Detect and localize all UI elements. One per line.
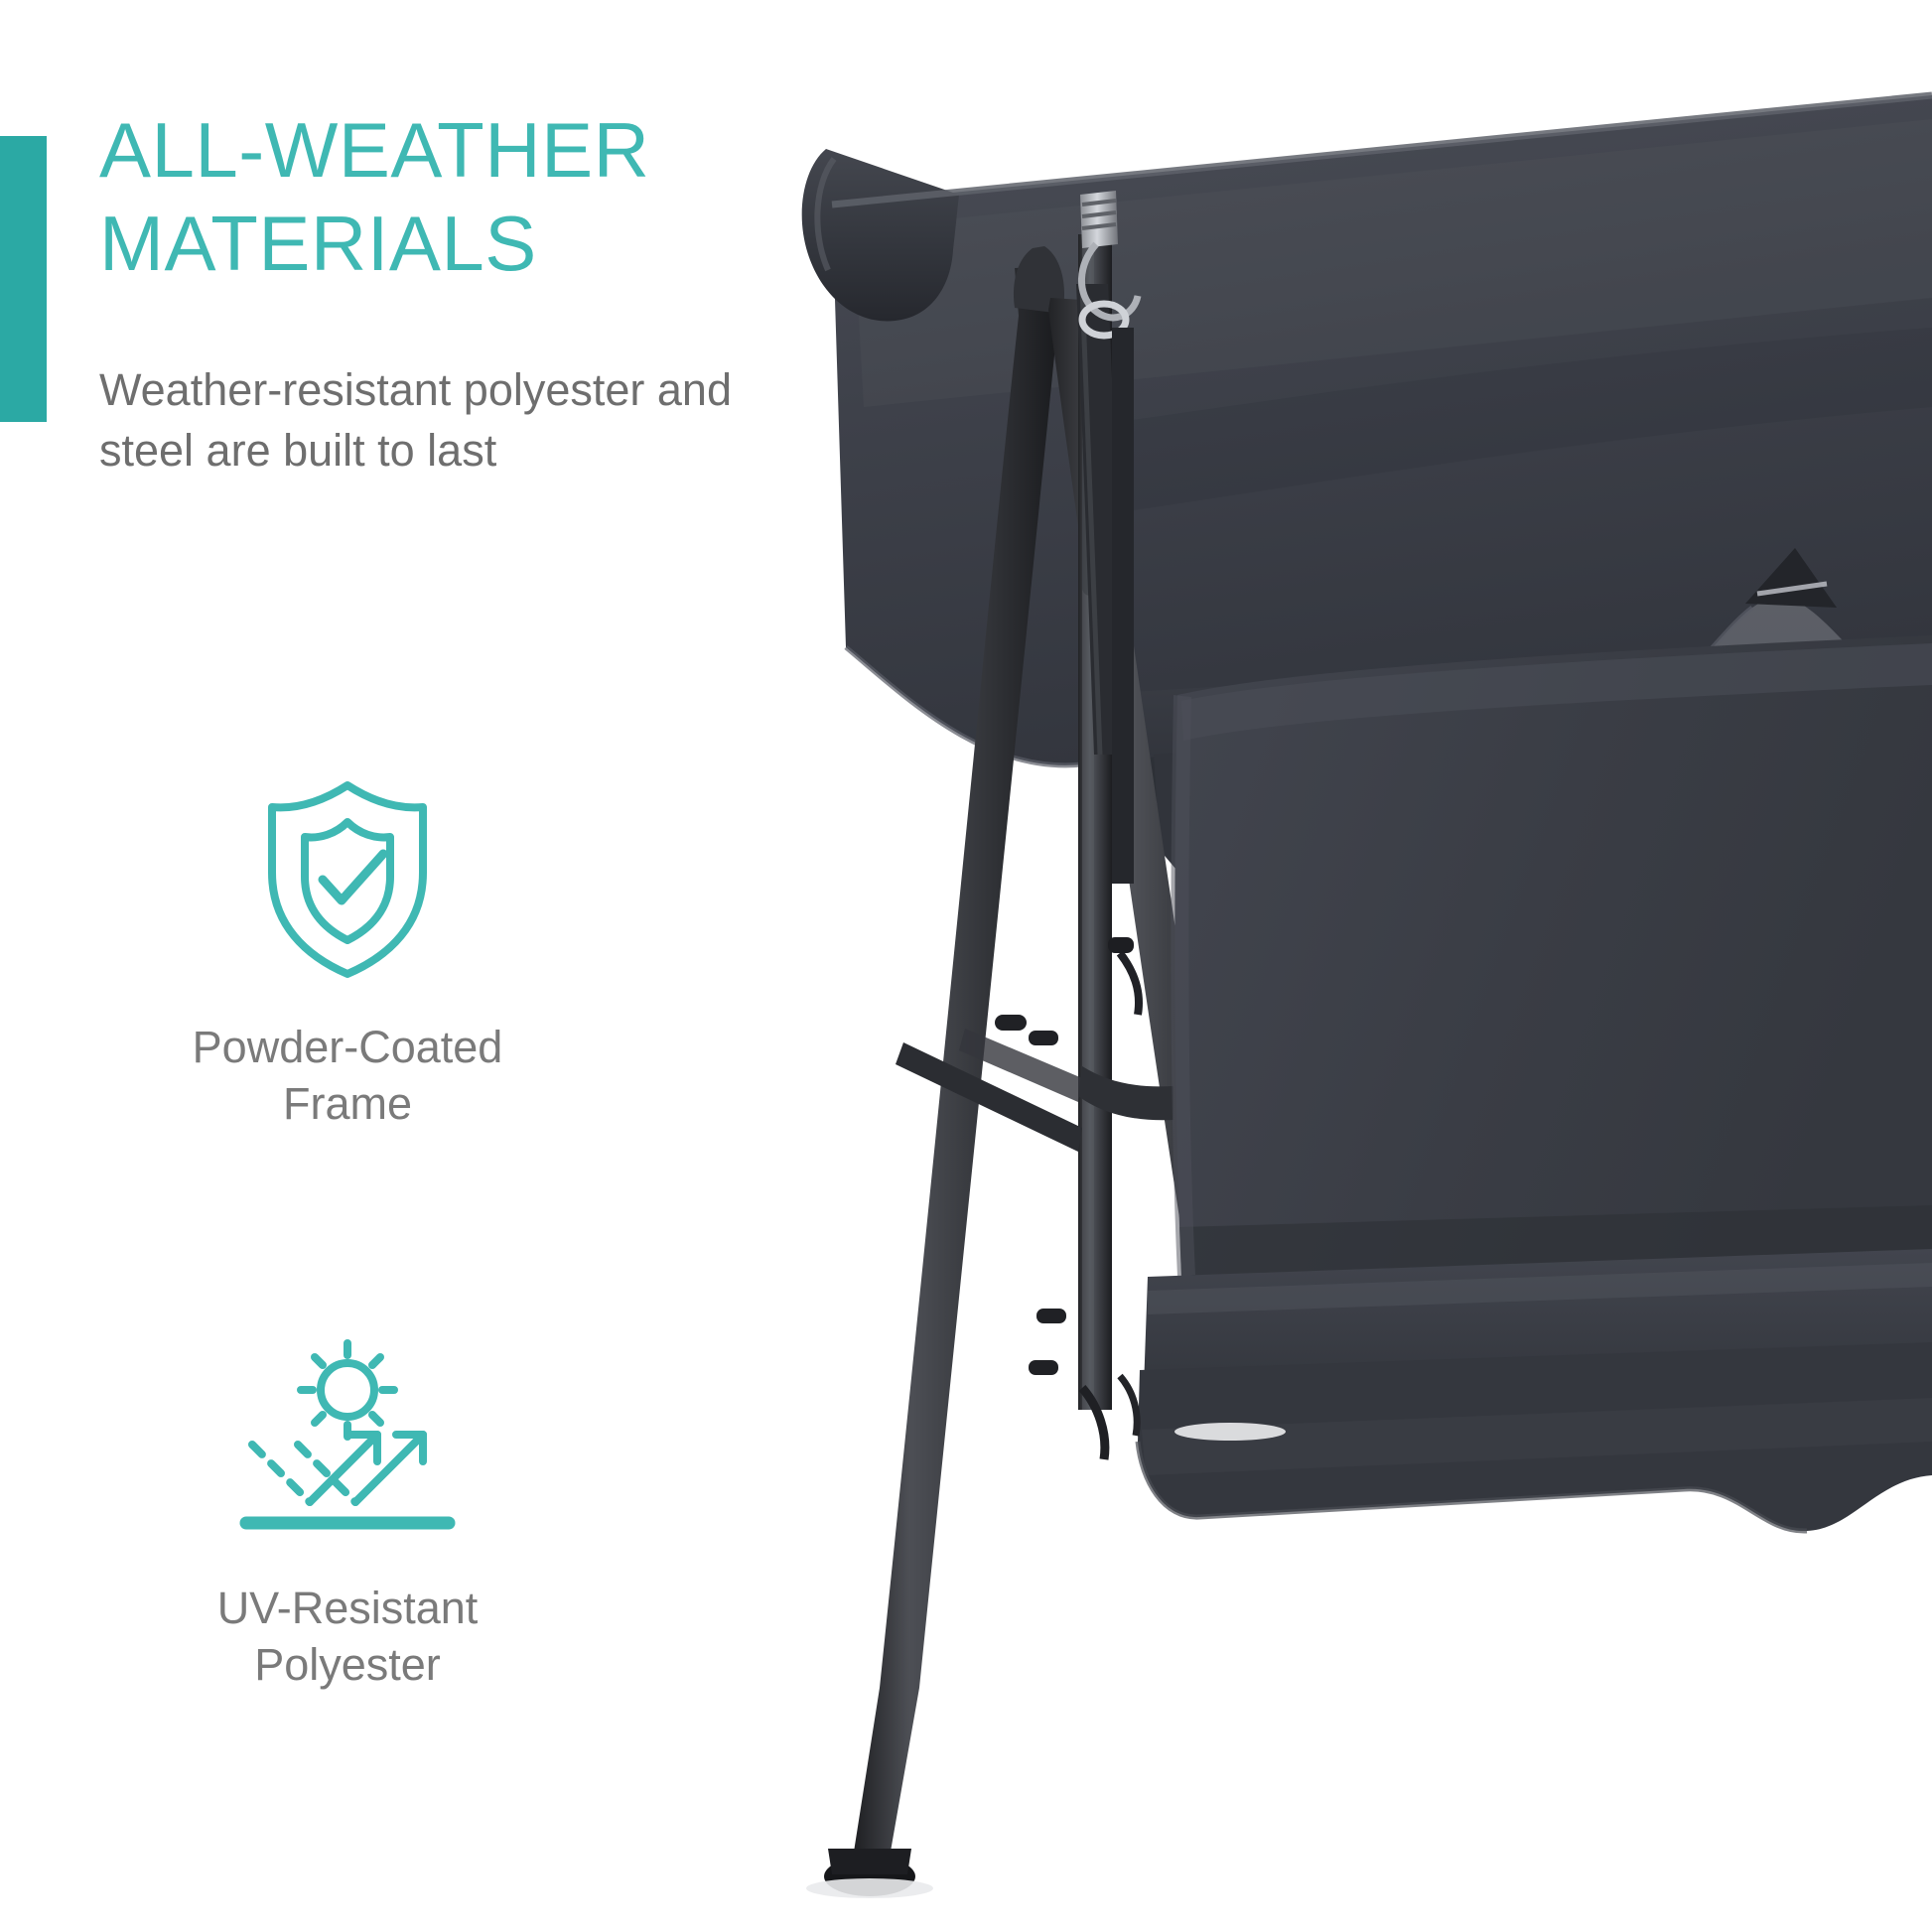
feature-label-line1: UV-Resistant — [40, 1580, 655, 1636]
uv-reflect-icon — [40, 1335, 655, 1544]
page-subtitle: Weather-resistant polyester and steel ar… — [99, 359, 794, 481]
feature-label-line2: Polyester — [40, 1636, 655, 1693]
feature-label-line1: Powder-Coated — [40, 1019, 655, 1075]
feature-label: Powder-Coated Frame — [40, 1019, 655, 1132]
feature-powder-coated-frame: Powder-Coated Frame — [40, 774, 655, 1132]
feature-label-line2: Frame — [40, 1075, 655, 1132]
shield-check-icon — [40, 774, 655, 983]
product-photo — [784, 0, 1932, 1932]
accent-bar — [0, 136, 47, 422]
product-feature-callout: ALL-WEATHER MATERIALS Weather-resistant … — [0, 0, 1932, 1932]
feature-label: UV-Resistant Polyester — [40, 1580, 655, 1693]
page-title: ALL-WEATHER MATERIALS — [99, 103, 784, 290]
feature-uv-resistant-polyester: UV-Resistant Polyester — [40, 1335, 655, 1693]
